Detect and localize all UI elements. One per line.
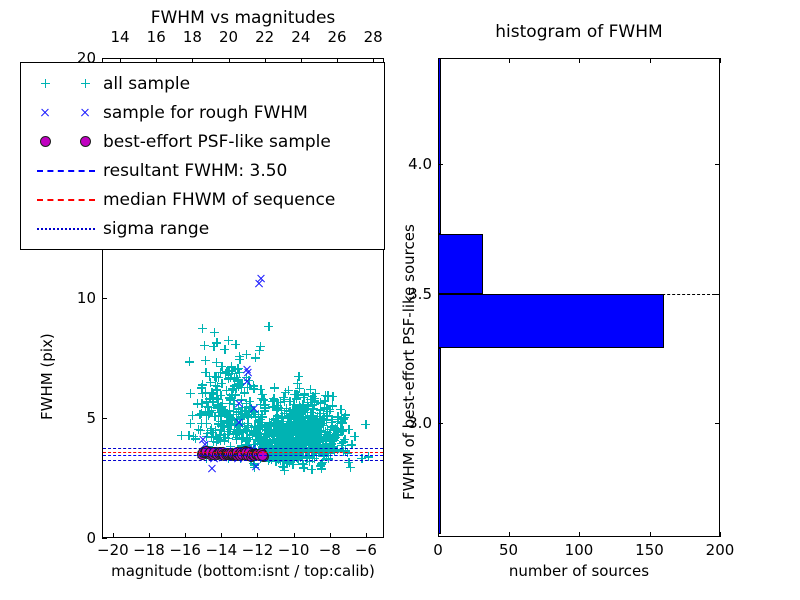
legend-line-icon bbox=[37, 228, 95, 230]
histogram-title: histogram of FWHM bbox=[438, 22, 720, 42]
legend-plus-icon bbox=[81, 79, 90, 88]
bottom-tick-mark--18 bbox=[149, 533, 150, 538]
scatter-point-all-sample bbox=[225, 393, 234, 402]
scatter-point-all-sample bbox=[186, 389, 195, 398]
legend-marker-plus-icon bbox=[29, 72, 103, 96]
scatter-point-all-sample bbox=[185, 357, 194, 366]
histogram-ylabel: FWHM of best-effort PSF-like sources bbox=[400, 170, 418, 500]
top-tick-18: 18 bbox=[183, 28, 202, 46]
scatter-hline-1 bbox=[103, 452, 383, 453]
scatter-point-all-sample bbox=[220, 345, 229, 354]
bottom-tick--6: −6 bbox=[355, 541, 377, 559]
bottom-tick--20: −20 bbox=[97, 541, 129, 559]
scatter-point-all-sample bbox=[217, 362, 226, 371]
histogram-xlabel: number of sources bbox=[438, 562, 720, 580]
scatter-point-all-sample bbox=[258, 412, 267, 421]
scatter-point-all-sample bbox=[256, 385, 265, 394]
scatter-hline-0 bbox=[103, 455, 383, 456]
hist-x-tick-mark-0 bbox=[438, 532, 439, 537]
histogram-axes bbox=[438, 58, 720, 537]
legend-label: sigma range bbox=[103, 219, 209, 239]
histogram-hline-resultant-fwhm bbox=[438, 294, 720, 295]
scatter-point-all-sample bbox=[201, 407, 210, 416]
legend-label: all sample bbox=[103, 74, 190, 94]
scatter-point-all-sample bbox=[316, 461, 325, 470]
scatter-point-all-sample bbox=[361, 420, 370, 429]
scatter-hline-2 bbox=[103, 448, 383, 449]
bottom-tick--12: −12 bbox=[242, 541, 274, 559]
legend-marker-x-icon bbox=[29, 101, 103, 125]
hist-y-tick-mark-3.0 bbox=[438, 423, 443, 424]
hist-x-tick-mark-100 bbox=[579, 532, 580, 537]
scatter-point-all-sample bbox=[338, 426, 347, 435]
hist-x-tick-top-0 bbox=[438, 58, 439, 63]
hist-x-tick-mark-200 bbox=[720, 532, 721, 537]
bottom-tick-mark--6 bbox=[366, 533, 367, 538]
hist-y-tick-right-3.0 bbox=[715, 423, 720, 424]
scatter-point-all-sample bbox=[273, 428, 282, 437]
scatter-point-all-sample bbox=[279, 393, 288, 402]
scatter-point-all-sample bbox=[197, 419, 206, 428]
scatter-point-all-sample bbox=[251, 353, 260, 362]
scatter-point-all-sample bbox=[319, 409, 328, 418]
scatter-y-tick-0: 0 bbox=[58, 529, 96, 547]
scatter-point-all-sample bbox=[216, 402, 225, 411]
scatter-y-tick-5: 5 bbox=[58, 409, 96, 427]
scatter-y-tick-mark-0 bbox=[102, 538, 107, 539]
bottom-tick-mark--8 bbox=[330, 533, 331, 538]
top-tick-14: 14 bbox=[111, 28, 130, 46]
hist-x-tick-50: 50 bbox=[499, 541, 518, 559]
bottom-tick-mark--12 bbox=[257, 533, 258, 538]
scatter-point-rough-fwhm bbox=[207, 463, 217, 473]
hist-x-tick-150: 150 bbox=[635, 541, 664, 559]
bottom-tick-mark--14 bbox=[221, 533, 222, 538]
scatter-point-all-sample bbox=[270, 397, 279, 406]
scatter-point-all-sample bbox=[264, 322, 273, 331]
legend-row-1[interactable]: sample for rough FWHM bbox=[29, 98, 374, 127]
scatter-point-all-sample bbox=[184, 431, 193, 440]
legend-label: median FHWM of sequence bbox=[103, 190, 335, 210]
scatter-point-all-sample bbox=[303, 427, 312, 436]
legend-marker-dashed-icon bbox=[29, 159, 103, 183]
bottom-tick--8: −8 bbox=[319, 541, 341, 559]
top-tick-24: 24 bbox=[291, 28, 310, 46]
hist-x-tick-0: 0 bbox=[433, 541, 443, 559]
figure-canvas: FWHM vs magnitudes 1416182022242628 −20−… bbox=[0, 0, 800, 600]
legend-row-0[interactable]: all sample bbox=[29, 69, 374, 98]
hist-x-tick-top-200 bbox=[720, 58, 721, 63]
scatter-point-all-sample bbox=[261, 403, 270, 412]
scatter-point-all-sample bbox=[286, 414, 295, 423]
scatter-point-all-sample bbox=[235, 352, 244, 361]
scatter-point-rough-fwhm bbox=[234, 418, 244, 428]
legend-circle-icon bbox=[80, 136, 91, 147]
top-tick-22: 22 bbox=[255, 28, 274, 46]
scatter-point-all-sample bbox=[238, 409, 247, 418]
hist-x-tick-top-150 bbox=[650, 58, 651, 63]
scatter-point-rough-fwhm bbox=[242, 377, 252, 387]
scatter-point-all-sample bbox=[202, 397, 211, 406]
scatter-point-all-sample bbox=[211, 426, 220, 435]
legend-row-3[interactable]: resultant FWHM: 3.50 bbox=[29, 156, 374, 185]
scatter-xlabel: magnitude (bottom:isnt / top:calib) bbox=[102, 562, 384, 580]
scatter-ylabel: FWHM (pix) bbox=[38, 220, 56, 420]
scatter-title: FWHM vs magnitudes bbox=[102, 8, 384, 28]
hist-x-tick-200: 200 bbox=[706, 541, 735, 559]
scatter-point-all-sample bbox=[193, 399, 202, 408]
legend-label: sample for rough FWHM bbox=[103, 103, 308, 123]
legend-marker-dashed-icon bbox=[29, 188, 103, 212]
scatter-legend: all samplesample for rough FWHMbest-effo… bbox=[20, 62, 385, 250]
legend-circle-icon bbox=[40, 136, 51, 147]
legend-row-4[interactable]: median FHWM of sequence bbox=[29, 185, 374, 214]
scatter-point-all-sample bbox=[276, 420, 285, 429]
scatter-point-rough-fwhm bbox=[243, 367, 253, 377]
scatter-hline-3 bbox=[103, 460, 383, 461]
scatter-point-all-sample bbox=[256, 429, 265, 438]
hist-x-tick-100: 100 bbox=[565, 541, 594, 559]
scatter-point-all-sample bbox=[214, 373, 223, 382]
bottom-tick--14: −14 bbox=[205, 541, 237, 559]
hist-y-tick-right-4.0 bbox=[715, 164, 720, 165]
scatter-point-all-sample bbox=[323, 391, 332, 400]
scatter-point-all-sample bbox=[296, 413, 305, 422]
legend-x-icon bbox=[80, 108, 90, 118]
legend-marker-dashdot-icon bbox=[29, 217, 103, 241]
top-tick-26: 26 bbox=[327, 28, 346, 46]
scatter-point-all-sample bbox=[294, 391, 303, 400]
legend-plus-icon bbox=[41, 79, 50, 88]
scatter-point-all-sample bbox=[350, 432, 359, 441]
scatter-point-all-sample bbox=[198, 324, 207, 333]
legend-row-2[interactable]: best-effort PSF-like sample bbox=[29, 127, 374, 156]
bottom-tick-mark--20 bbox=[113, 533, 114, 538]
hist-y-tick-mark-4.0 bbox=[438, 164, 443, 165]
legend-row-5[interactable]: sigma range bbox=[29, 214, 374, 243]
top-tick-16: 16 bbox=[147, 28, 166, 46]
bottom-tick-mark--10 bbox=[294, 533, 295, 538]
scatter-point-rough-fwhm bbox=[254, 279, 264, 289]
bottom-tick--18: −18 bbox=[133, 541, 165, 559]
scatter-point-rough-fwhm bbox=[249, 403, 259, 413]
bottom-tick-mark--16 bbox=[185, 533, 186, 538]
scatter-point-rough-fwhm bbox=[251, 462, 261, 472]
legend-marker-circle-icon bbox=[29, 130, 103, 154]
scatter-y-tick-mark-10 bbox=[102, 298, 107, 299]
hist-x-tick-top-50 bbox=[509, 58, 510, 63]
hist-x-tick-mark-150 bbox=[650, 532, 651, 537]
scatter-point-all-sample bbox=[210, 328, 219, 337]
top-tick-28: 28 bbox=[364, 28, 383, 46]
hist-x-tick-mark-50 bbox=[509, 532, 510, 537]
scatter-point-all-sample bbox=[247, 423, 256, 432]
scatter-y-tick-mark-5 bbox=[102, 418, 107, 419]
legend-label: best-effort PSF-like sample bbox=[103, 132, 331, 152]
scatter-y-tick-10: 10 bbox=[58, 289, 96, 307]
scatter-point-all-sample bbox=[307, 465, 316, 474]
scatter-point-all-sample bbox=[200, 341, 209, 350]
scatter-point-all-sample bbox=[232, 373, 241, 382]
legend-line-icon bbox=[37, 199, 95, 201]
scatter-point-all-sample bbox=[224, 336, 233, 345]
bottom-tick--16: −16 bbox=[169, 541, 201, 559]
scatter-point-all-sample bbox=[235, 429, 244, 438]
legend-label: resultant FWHM: 3.50 bbox=[103, 161, 287, 181]
hist-x-tick-top-100 bbox=[579, 58, 580, 63]
legend-x-icon bbox=[40, 108, 50, 118]
bottom-tick--10: −10 bbox=[278, 541, 310, 559]
legend-line-icon bbox=[37, 170, 95, 172]
scatter-point-all-sample bbox=[299, 404, 308, 413]
scatter-point-all-sample bbox=[294, 372, 303, 381]
scatter-point-all-sample bbox=[273, 411, 282, 420]
scatter-point-all-sample bbox=[315, 428, 324, 437]
scatter-point-all-sample bbox=[201, 356, 210, 365]
top-tick-20: 20 bbox=[219, 28, 238, 46]
scatter-point-rough-fwhm bbox=[234, 399, 244, 409]
scatter-point-all-sample bbox=[198, 380, 207, 389]
scatter-point-all-sample bbox=[270, 383, 279, 392]
